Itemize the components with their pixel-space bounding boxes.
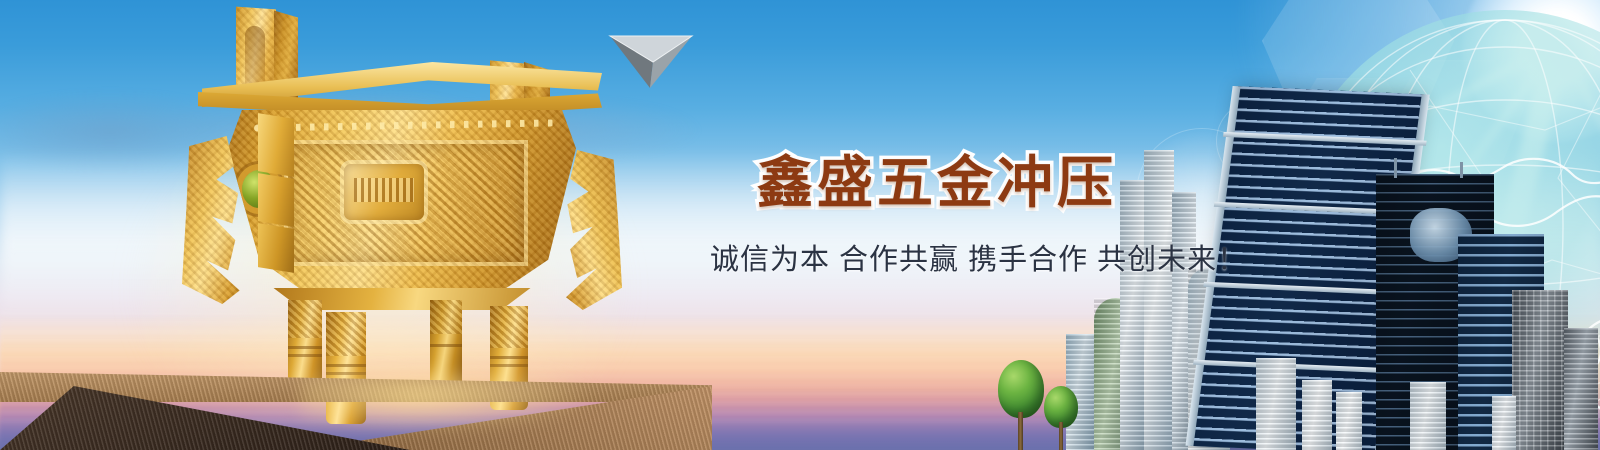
ding-flange-rib (258, 173, 294, 227)
platform-light-glow (300, 372, 600, 432)
building (1256, 358, 1296, 450)
building (1144, 150, 1174, 450)
page-title: 鑫盛五金冲压 (757, 138, 1117, 219)
ding-flange-rib (258, 113, 294, 177)
building (1512, 290, 1568, 450)
building (1410, 382, 1446, 450)
building (1336, 392, 1362, 450)
building (1492, 396, 1516, 450)
ding-cartouche-motif (354, 178, 414, 202)
building (1302, 380, 1332, 450)
building (1120, 180, 1146, 450)
page-subtitle: 诚信为本 合作共赢 携手合作 共创未来！ (710, 236, 1247, 278)
ding-flange-rib (258, 223, 294, 273)
building (1564, 328, 1598, 450)
hero-banner: 鑫盛五金冲压 诚信为本 合作共赢 携手合作 共创未来！ (0, 0, 1600, 450)
